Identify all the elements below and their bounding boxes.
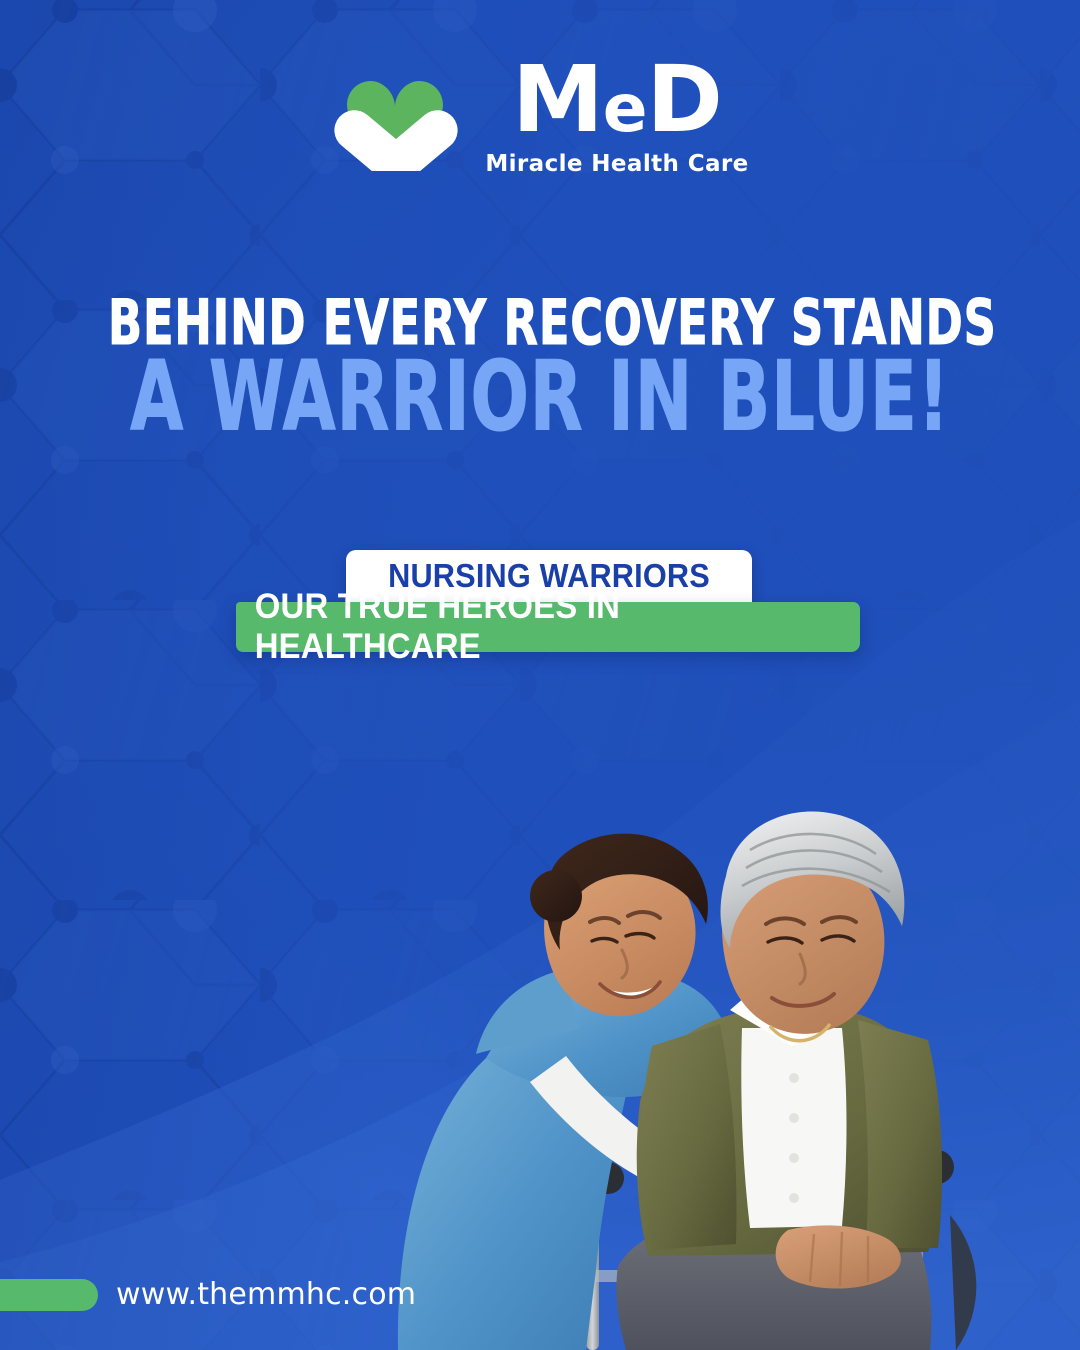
poster-canvas: MeD Miracle Health Care Behind Every Rec… [0, 0, 1080, 1350]
wordmark-e: e [603, 70, 647, 147]
banner-secondary-label: OUR TRUE HEROES IN HEALTHCARE [255, 587, 842, 667]
banner-secondary: OUR TRUE HEROES IN HEALTHCARE [236, 602, 860, 652]
banner-group: NURSING WARRIORS OUR TRUE HEROES IN HEAL… [0, 550, 1080, 660]
brand-wordmark: MeD [512, 58, 722, 143]
heart-pills-icon [331, 63, 459, 171]
hero-photo [390, 710, 1080, 1350]
wordmark-d: D [646, 46, 721, 153]
footer-accent-pill [0, 1279, 98, 1311]
headline-line-2: A Warrior in Blue! [108, 349, 972, 445]
brand-wordmark-group: MeD Miracle Health Care [485, 58, 748, 177]
brand-tagline: Miracle Health Care [485, 151, 748, 177]
headline-block: Behind Every Recovery Stands A Warrior i… [0, 296, 1080, 440]
wordmark-m: M [512, 46, 603, 153]
nurse-and-patient-illustration [390, 710, 1080, 1350]
brand-logo: MeD Miracle Health Care [0, 58, 1080, 177]
website-url[interactable]: www.themmhc.com [116, 1277, 416, 1312]
footer-bar: www.themmhc.com [0, 1277, 416, 1312]
